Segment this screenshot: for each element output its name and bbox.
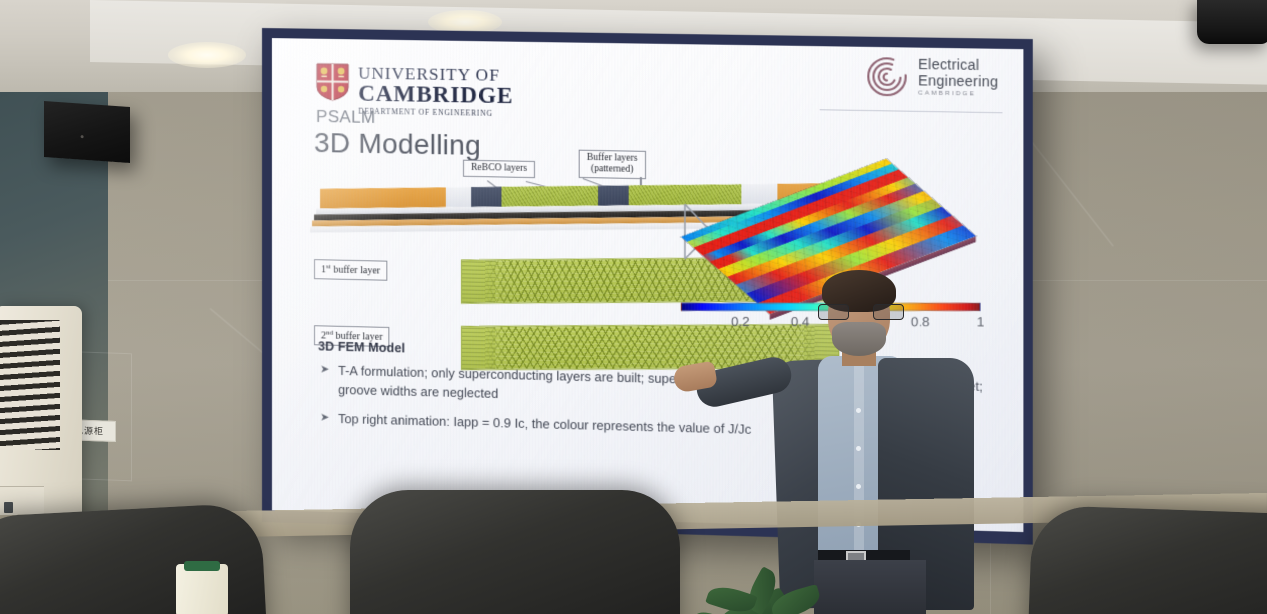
department-line-2: Engineering	[918, 73, 998, 90]
presenter-beard	[832, 322, 886, 356]
wall-speaker-right	[1197, 0, 1267, 44]
bullet-marker-icon: ➤	[320, 410, 329, 423]
university-wordmark: UNIVERSITY OF CAMBRIDGE DEPARTMENT OF EN…	[358, 63, 513, 118]
drink-cup	[176, 564, 228, 614]
cup-lid	[184, 561, 220, 571]
cambridge-crest-icon	[316, 63, 349, 102]
slide-title: 3D Modelling	[314, 127, 481, 162]
ac-grille	[0, 320, 60, 450]
callout-buffer-line-2: (patterned)	[587, 164, 638, 176]
callout-buffer: Buffer layers (patterned)	[579, 150, 646, 180]
university-line-2: CAMBRIDGE	[358, 82, 513, 109]
bullet-text: Top right animation: Iapp = 0.9 Ic, the …	[338, 412, 751, 437]
conference-chair	[350, 490, 680, 614]
slide-kicker: PSALM	[316, 107, 375, 128]
potted-plant	[688, 522, 838, 614]
university-line-3: DEPARTMENT OF ENGINEERING	[358, 107, 513, 119]
ac-indicator	[4, 502, 13, 513]
glasses-icon	[818, 304, 904, 320]
wall-speaker-left: ●	[44, 101, 130, 163]
body-heading: 3D FEM Model	[318, 339, 405, 355]
ee-spiral-icon	[865, 55, 909, 98]
department-wordmark: Electrical Engineering CAMBRIDGE	[918, 57, 998, 99]
colorbar-tick-label: 0.2	[731, 314, 750, 329]
label-first-buffer-layer: 1st buffer layer	[314, 259, 387, 281]
header-divider	[820, 109, 1003, 113]
conference-chair	[1028, 505, 1267, 614]
label-ordinal-suffix: nd	[326, 329, 333, 337]
bullet-marker-icon: ➤	[320, 362, 329, 375]
ceiling-downlight	[168, 42, 246, 68]
department-logo: Electrical Engineering CAMBRIDGE	[865, 55, 998, 100]
department-line-3: CAMBRIDGE	[918, 90, 998, 98]
shirt-placket	[854, 364, 864, 560]
lecture-room-scene: ● 电源柜	[0, 0, 1267, 614]
callout-rebco: ReBCO layers	[463, 160, 535, 179]
label-text: buffer layer	[331, 265, 380, 277]
